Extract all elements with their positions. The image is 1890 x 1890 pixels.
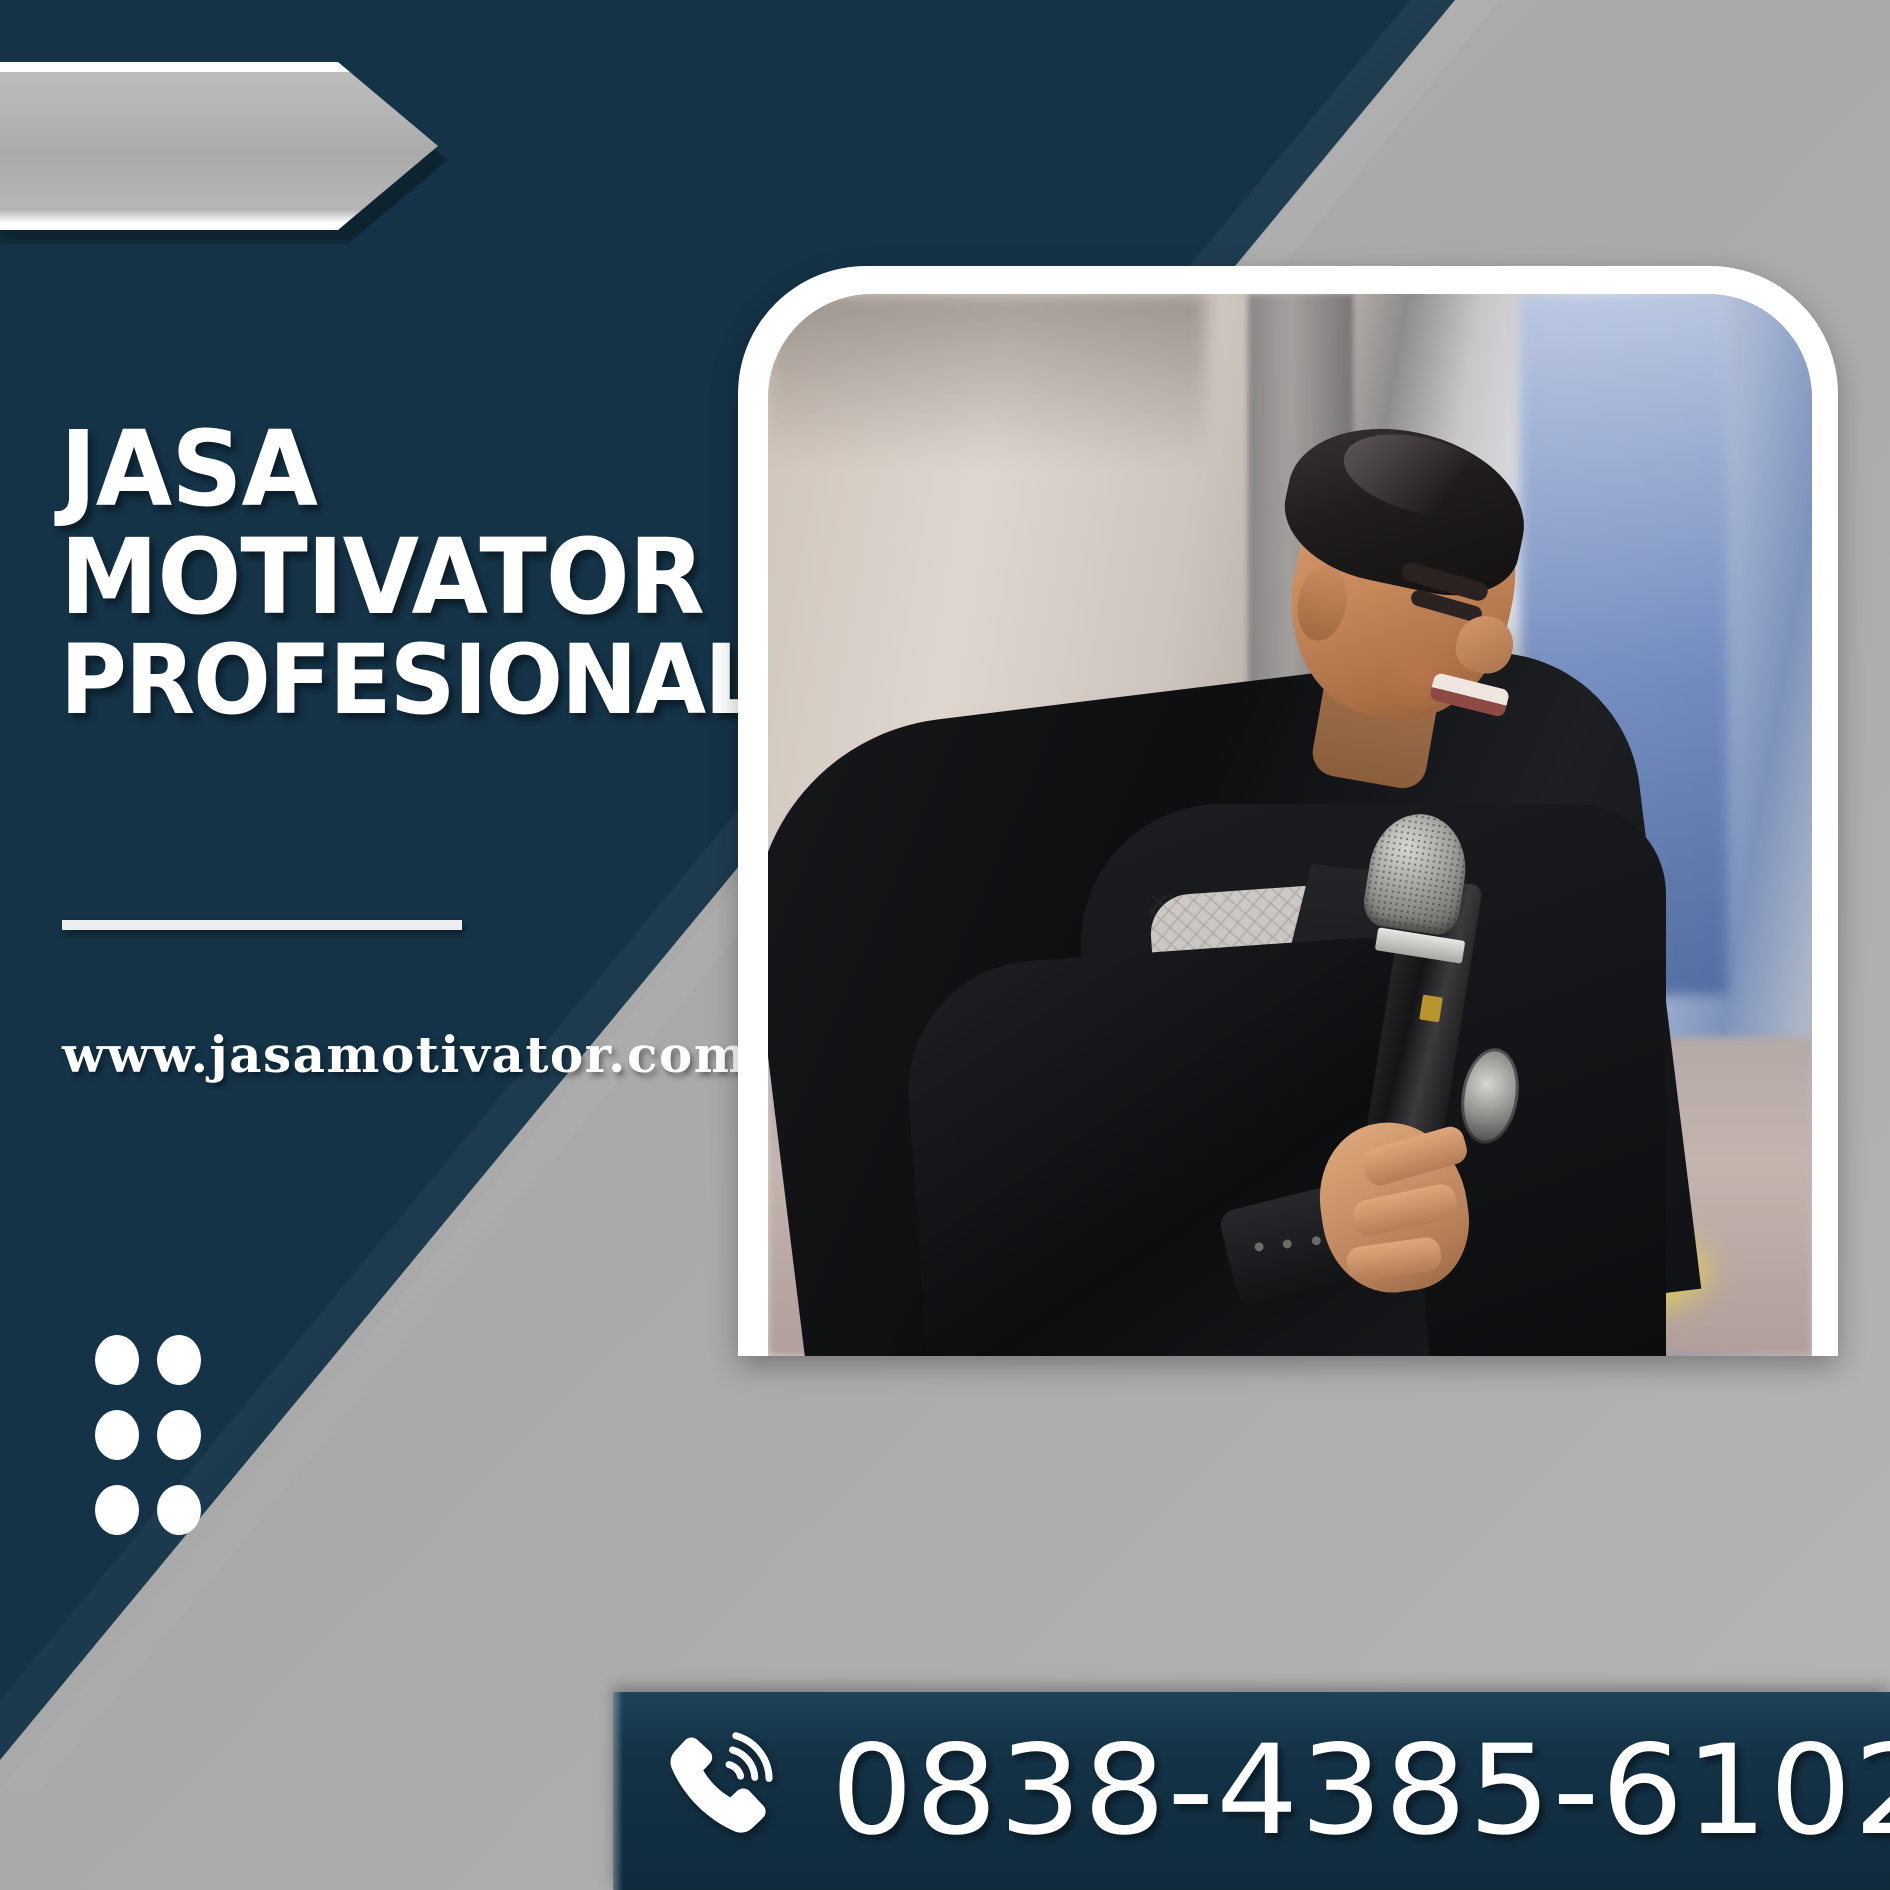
photo-frame (738, 266, 1838, 1356)
cuff-button (1254, 1242, 1265, 1253)
speaker-photo (768, 294, 1812, 1356)
headline-line-2: MOTIVATOR (60, 523, 725, 631)
dot (95, 1485, 139, 1535)
dot (95, 1410, 139, 1460)
dot (157, 1410, 201, 1460)
speaker-figure (768, 294, 1812, 1356)
poster-canvas: JASA MOTIVATOR PROFESIONAL www.jasamotiv… (0, 0, 1890, 1890)
cuff-button (1311, 1235, 1322, 1246)
headline-line-1: JASA (60, 415, 725, 523)
dot (157, 1335, 201, 1385)
website-url[interactable]: www.jasamotivator.com (62, 1025, 748, 1084)
contact-bar[interactable]: 0838-4385-6102 (613, 1692, 1890, 1890)
phone-call-icon (655, 1725, 787, 1857)
dot-grid-decoration (95, 1335, 219, 1560)
headline-line-3: PROFESIONAL (60, 631, 725, 731)
title-divider (62, 920, 462, 930)
cuff-button (1283, 1238, 1294, 1249)
dot (157, 1485, 201, 1535)
microphone-indicator (1419, 995, 1443, 1023)
page-title: JASA MOTIVATOR PROFESIONAL (60, 415, 725, 731)
dot (95, 1335, 139, 1385)
phone-number[interactable]: 0838-4385-6102 (831, 1719, 1890, 1863)
